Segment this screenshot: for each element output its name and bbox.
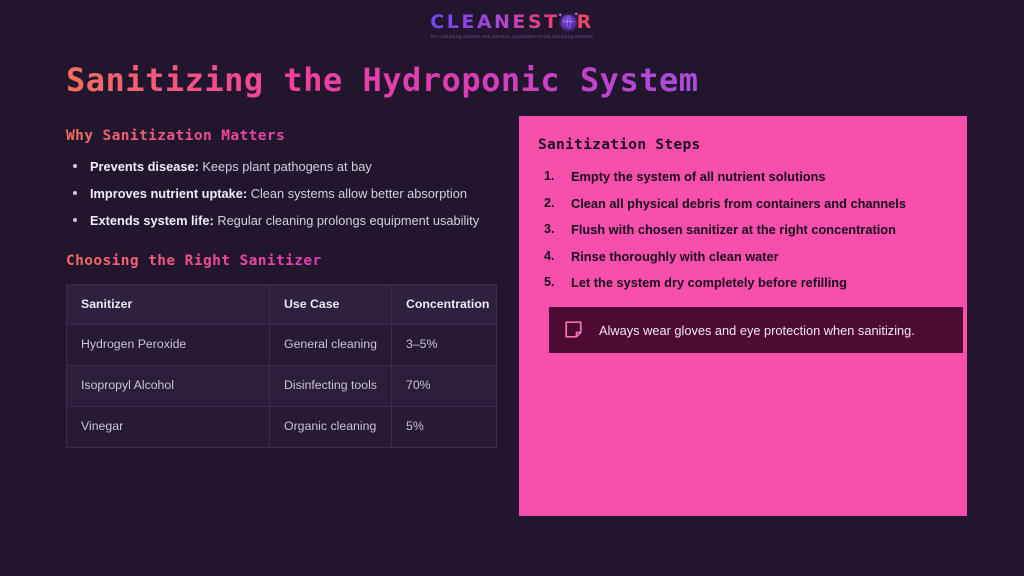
left-column: Why Sanitization Matters Prevents diseas… <box>66 126 496 448</box>
table-cell: 5% <box>392 407 497 448</box>
brand-logo-part-1: CLEANEST <box>430 12 559 32</box>
table-cell: Isopropyl Alcohol <box>67 366 270 407</box>
step-number: 5. <box>544 274 564 291</box>
callout-text: Always wear gloves and eye protection wh… <box>599 322 915 339</box>
table-column-header: Use Case <box>270 285 392 325</box>
sanitizer-table: Sanitizer Use Case Concentration Hydroge… <box>66 284 497 448</box>
sparkle-icon: ✦ <box>574 12 582 18</box>
brand-logo-wordmark: CLEANEST ✦ ✦ R <box>430 12 593 32</box>
step-text: Let the system dry completely before ref… <box>571 275 847 290</box>
step-number: 2. <box>544 195 564 212</box>
safety-callout: Always wear gloves and eye protection wh… <box>549 307 963 353</box>
steps-list: 1. Empty the system of all nutrient solu… <box>538 168 948 291</box>
table-column-header: Concentration <box>392 285 497 325</box>
step-number: 3. <box>544 221 564 238</box>
table-cell: Disinfecting tools <box>270 366 392 407</box>
table-cell: 70% <box>392 366 497 407</box>
globe-icon: ✦ ✦ <box>561 15 576 30</box>
sanitization-steps-panel: Sanitization Steps 1. Empty the system o… <box>519 116 967 516</box>
slide-root: CLEANEST ✦ ✦ R Pro Cleaning Guides And S… <box>0 0 1024 576</box>
list-item-lead: Prevents disease: <box>90 159 199 174</box>
step-text: Empty the system of all nutrient solutio… <box>571 169 826 184</box>
step-text: Clean all physical debris from container… <box>571 196 906 211</box>
step-number: 4. <box>544 248 564 265</box>
table-row: Vinegar Organic cleaning 5% <box>67 407 497 448</box>
table-cell: Hydrogen Peroxide <box>67 325 270 366</box>
list-item: 1. Empty the system of all nutrient solu… <box>538 168 948 185</box>
brand-logo: CLEANEST ✦ ✦ R Pro Cleaning Guides And S… <box>0 12 1024 40</box>
table-cell: Vinegar <box>67 407 270 448</box>
section-heading-choosing-the-right-sanitizer: Choosing the Right Sanitizer <box>66 251 496 271</box>
list-item: Extends system life: Regular cleaning pr… <box>66 212 496 229</box>
list-item: 2. Clean all physical debris from contai… <box>538 195 948 212</box>
sticky-note-icon <box>565 321 582 339</box>
step-number: 1. <box>544 168 564 185</box>
benefits-list: Prevents disease: Keeps plant pathogens … <box>66 158 496 229</box>
step-text: Flush with chosen sanitizer at the right… <box>571 222 896 237</box>
bullet-icon <box>73 164 77 168</box>
list-item: 4. Rinse thoroughly with clean water <box>538 248 948 265</box>
list-item-lead: Improves nutrient uptake: <box>90 186 247 201</box>
list-item: 3. Flush with chosen sanitizer at the ri… <box>538 221 948 238</box>
list-item-text: Clean systems allow better absorption <box>247 186 467 201</box>
table-row: Hydrogen Peroxide General cleaning 3–5% <box>67 325 497 366</box>
page-title: Sanitizing the Hydroponic System <box>66 59 699 101</box>
table-header-row: Sanitizer Use Case Concentration <box>67 285 497 325</box>
sparkle-icon: ✦ <box>558 13 566 19</box>
table-cell: Organic cleaning <box>270 407 392 448</box>
table-column-header: Sanitizer <box>67 285 270 325</box>
bullet-icon <box>73 218 77 222</box>
step-text: Rinse thoroughly with clean water <box>571 249 779 264</box>
table-cell: General cleaning <box>270 325 392 366</box>
list-item: Prevents disease: Keeps plant pathogens … <box>66 158 496 175</box>
bullet-icon <box>73 191 77 195</box>
section-heading-why-sanitization-matters: Why Sanitization Matters <box>66 126 496 146</box>
list-item-text: Keeps plant pathogens at bay <box>199 159 372 174</box>
list-item-text: Regular cleaning prolongs equipment usab… <box>214 213 479 228</box>
brand-tagline: Pro Cleaning Guides And Service Journali… <box>431 33 593 40</box>
list-item: Improves nutrient uptake: Clean systems … <box>66 185 496 202</box>
panel-title: Sanitization Steps <box>538 135 948 155</box>
list-item-lead: Extends system life: <box>90 213 214 228</box>
table-row: Isopropyl Alcohol Disinfecting tools 70% <box>67 366 497 407</box>
list-item: 5. Let the system dry completely before … <box>538 274 948 291</box>
table-cell: 3–5% <box>392 325 497 366</box>
